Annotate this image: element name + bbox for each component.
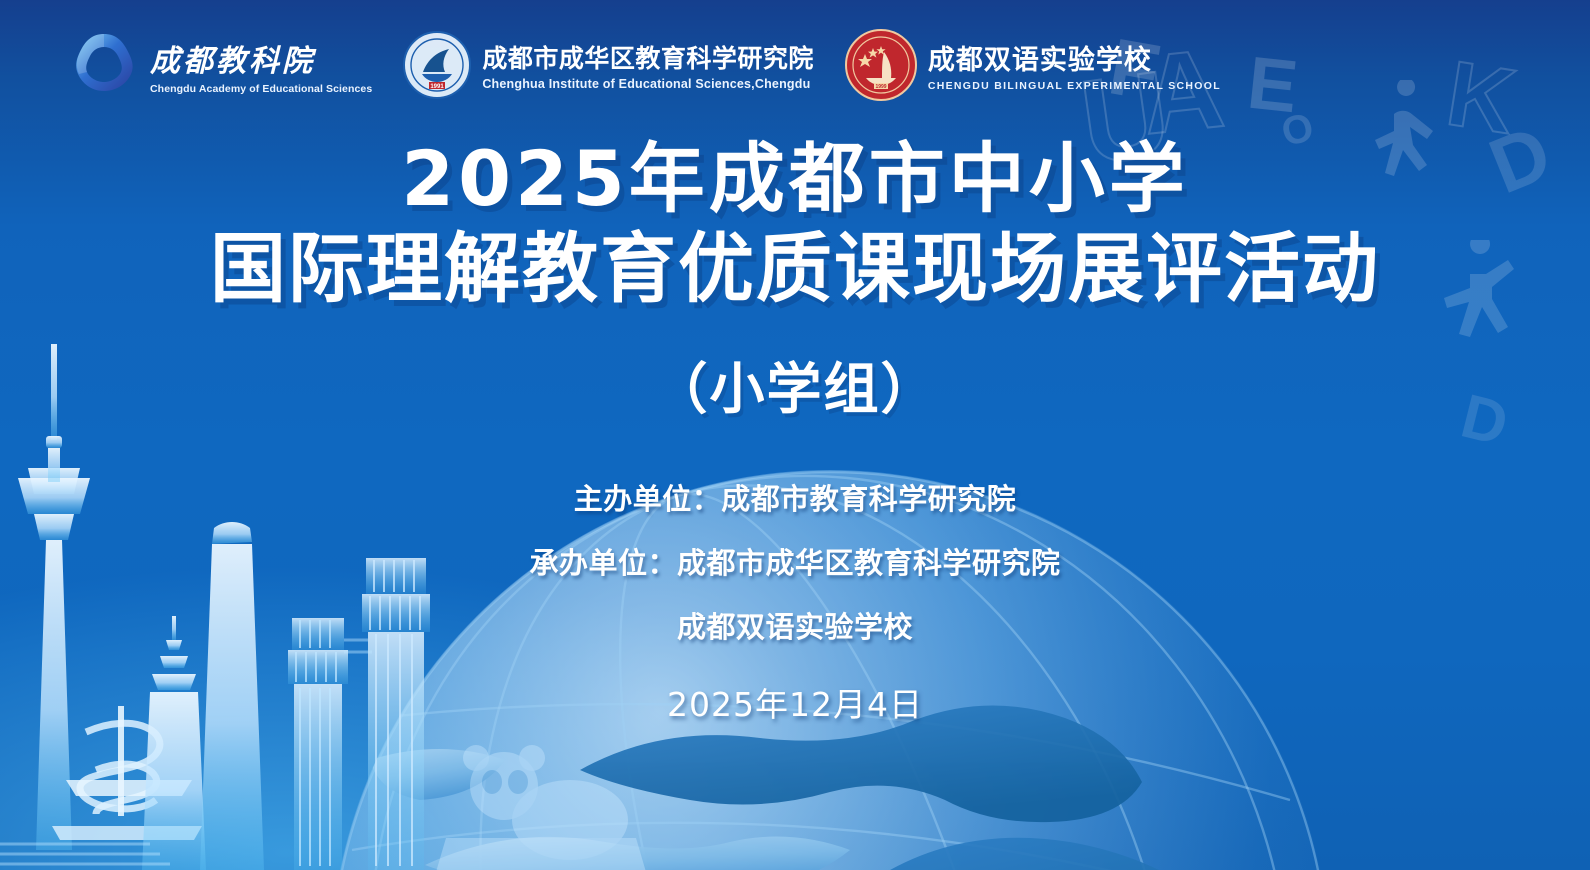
title-group-label: （小学组） — [0, 344, 1590, 424]
seal-year-1999: 1999 — [875, 84, 886, 90]
logo-chengdu-academy: 成都教科院 Chengdu Academy of Educational Sci… — [68, 29, 372, 101]
organizer-coorganizer: 承办单位：成都市成华区教育科学研究院 — [0, 540, 1590, 582]
logo-chenghua-institute: 1991 成都市成华区教育科学研究院 Chenghua Institute of… — [402, 30, 814, 100]
logo-2-en: Chenghua Institute of Educational Scienc… — [482, 77, 814, 91]
organizer-block: 主办单位：成都市教育科学研究院 承办单位：成都市成华区教育科学研究院 成都双语实… — [0, 476, 1590, 646]
logo-3-en: CHENGDU BILINGUAL EXPERIMENTAL SCHOOL — [928, 80, 1221, 92]
seal-year-1991: 1991 — [431, 84, 445, 90]
organizer-host: 主办单位：成都市教育科学研究院 — [0, 476, 1590, 518]
terraced-tower-small — [288, 618, 348, 870]
poster-canvas: U F A E O K D D — [0, 0, 1590, 870]
logo-1-cn: 成都教科院 — [150, 36, 372, 80]
title-line-2: 国际理解教育优质课现场展评活动 — [0, 226, 1590, 313]
organizer-venue-school: 成都双语实验学校 — [0, 604, 1590, 646]
chengdu-bilingual-school-seal-logo: 1999 — [844, 28, 918, 102]
chenghua-institute-seal-logo: 1991 — [402, 30, 472, 100]
chengdu-academy-trefoil-logo — [68, 29, 140, 101]
logo-2-cn: 成都市成华区教育科学研究院 — [482, 39, 814, 75]
logo-1-en: Chengdu Academy of Educational Sciences — [150, 83, 372, 95]
event-date: 2025年12月4日 — [0, 678, 1590, 726]
partner-logos: 成都教科院 Chengdu Academy of Educational Sci… — [68, 28, 1221, 102]
twin-spire-tower — [142, 616, 206, 870]
poster-title-block: 2025年成都市中小学 国际理解教育优质课现场展评活动 （小学组） — [0, 140, 1590, 424]
title-line-1: 2025年成都市中小学 — [0, 140, 1590, 218]
logo-3-cn: 成都双语实验学校 — [928, 38, 1221, 77]
panda-silhouette — [420, 742, 680, 870]
logo-chengdu-bilingual-school: 1999 成都双语实验学校 CHENGDU BILINGUAL EXPERIME… — [844, 28, 1221, 102]
